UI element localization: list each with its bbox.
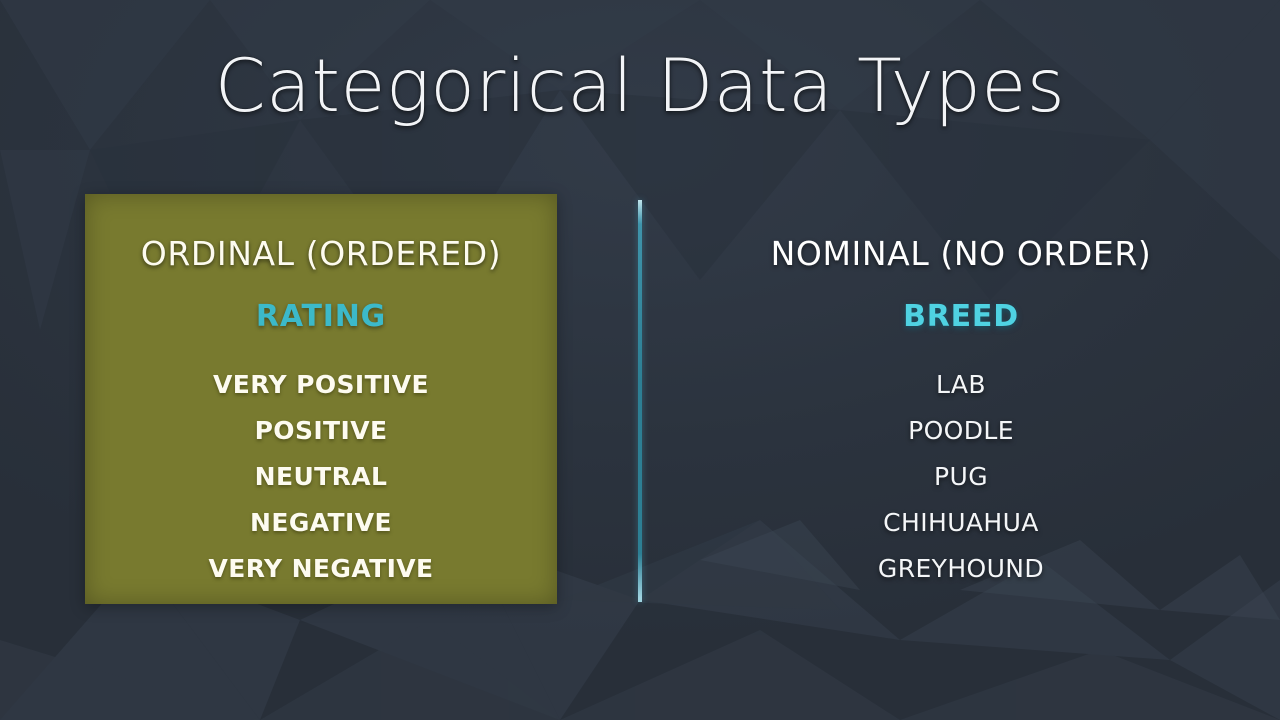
column-nominal-header: NOMINAL (NO ORDER) [725,234,1197,273]
column-nominal: NOMINAL (NO ORDER) BREED LAB POODLE PUG … [725,194,1197,604]
column-ordinal-header: ORDINAL (ORDERED) [85,234,557,273]
column-divider [638,200,642,602]
list-item: POSITIVE [85,408,557,454]
page-title: Categorical Data Types [0,44,1280,129]
ordinal-value-list: VERY POSITIVE POSITIVE NEUTRAL NEGATIVE … [85,362,557,592]
column-ordinal-subheader: RATING [85,299,557,334]
column-ordinal: ORDINAL (ORDERED) RATING VERY POSITIVE P… [85,194,557,604]
column-nominal-subheader: BREED [725,299,1197,334]
list-item: NEGATIVE [85,500,557,546]
nominal-value-list: LAB POODLE PUG CHIHUAHUA GREYHOUND [725,362,1197,592]
list-item: LAB [725,362,1197,408]
list-item: PUG [725,454,1197,500]
list-item: POODLE [725,408,1197,454]
list-item: CHIHUAHUA [725,500,1197,546]
list-item: VERY POSITIVE [85,362,557,408]
list-item: NEUTRAL [85,454,557,500]
list-item: GREYHOUND [725,546,1197,592]
list-item: VERY NEGATIVE [85,546,557,592]
